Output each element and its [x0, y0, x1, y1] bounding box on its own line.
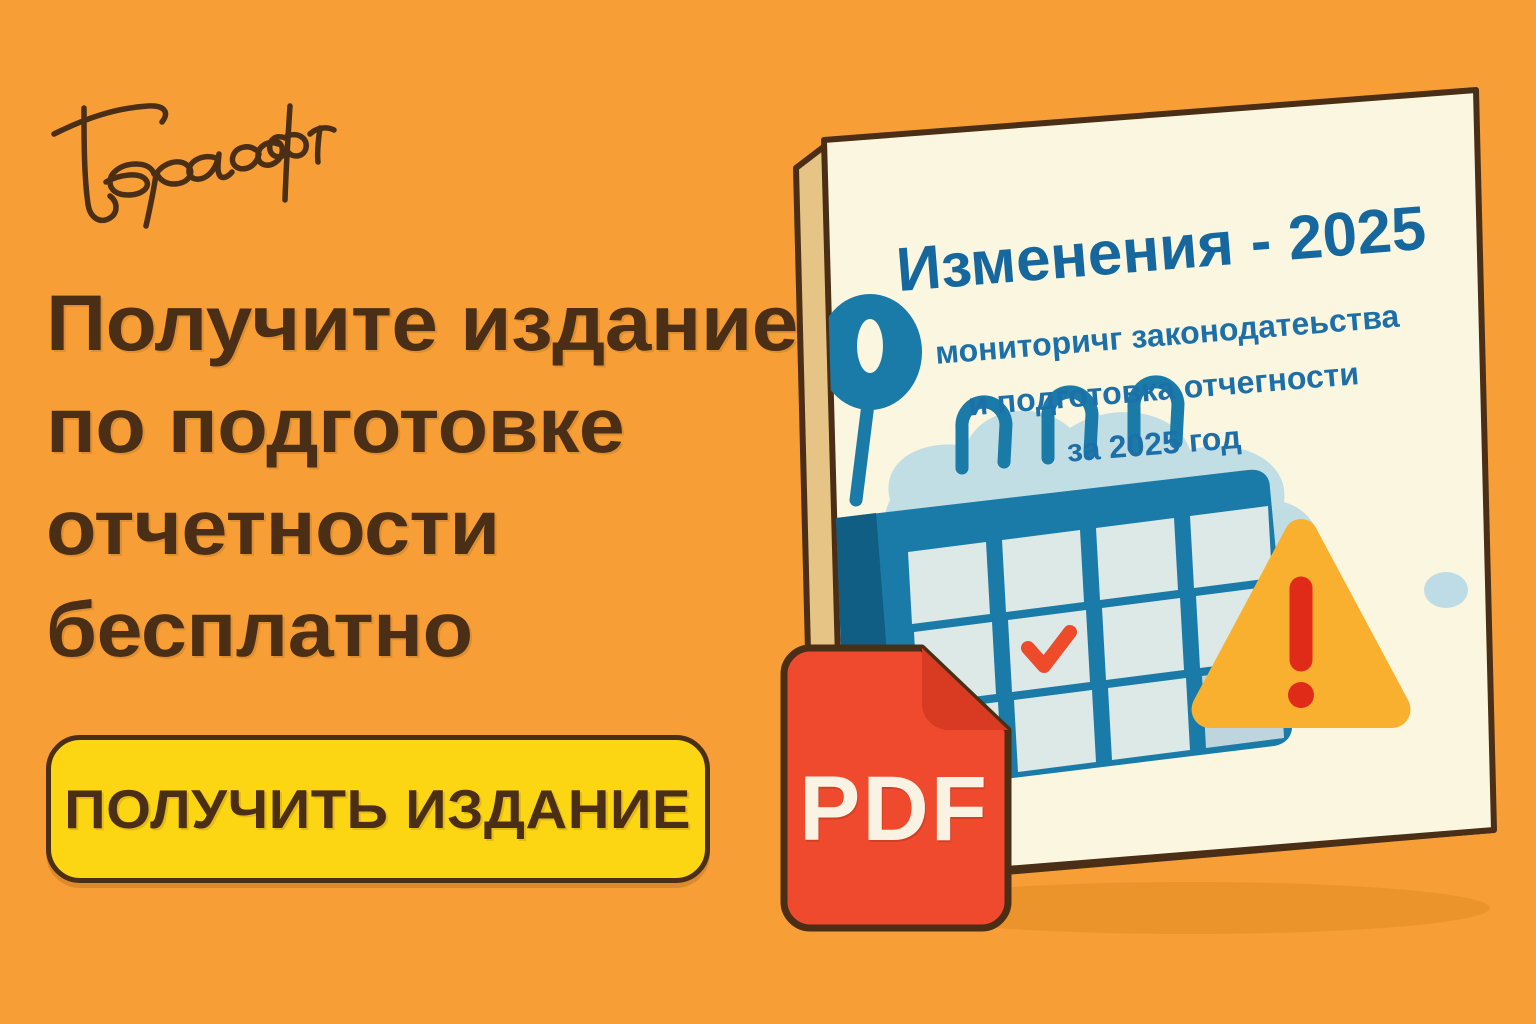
- brand-logo[interactable]: [44, 78, 344, 228]
- promo-banner: Получите издание по подготовке отчетност…: [0, 0, 1536, 1024]
- page-title: Получите издание по подготовке отчетност…: [46, 272, 866, 680]
- pdf-file-shape: [784, 648, 1008, 928]
- get-edition-button-label: ПОЛУЧИТЬ ИЗДАНИЕ: [64, 777, 691, 841]
- logo-script-icon: [54, 106, 334, 226]
- pdf-file-icon[interactable]: PDF: [766, 638, 1022, 938]
- decorative-dot: [1424, 572, 1468, 608]
- get-edition-button[interactable]: ПОЛУЧИТЬ ИЗДАНИЕ: [46, 735, 710, 883]
